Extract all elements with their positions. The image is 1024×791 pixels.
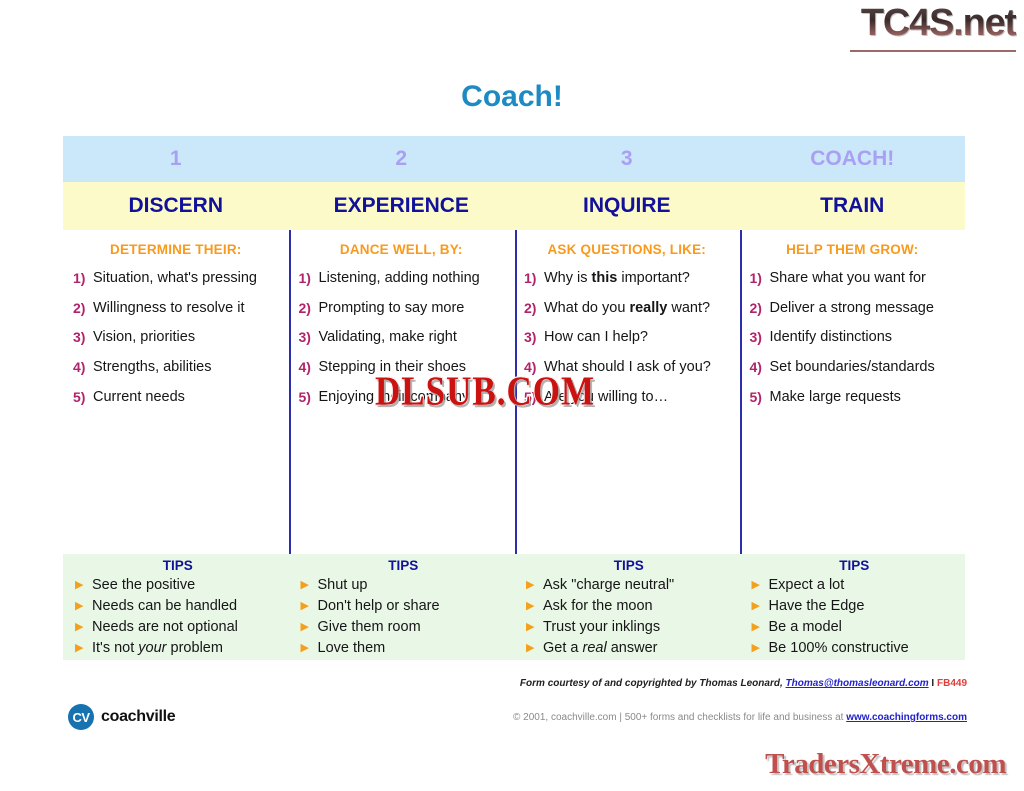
- tips-title: TIPS: [301, 558, 507, 573]
- column-item: 4)What should I ask of you?: [524, 359, 730, 377]
- tip-item: ▶Be a model: [752, 617, 958, 638]
- tip-text: Don't help or share: [318, 596, 440, 617]
- tip-text: It's not your problem: [92, 638, 223, 659]
- coachville-wordmark: coachville: [101, 708, 175, 726]
- page-title: Coach!: [0, 80, 1024, 114]
- column-heading: HELP THEM GROW:: [750, 242, 956, 257]
- triangle-bullet-icon: ▶: [301, 596, 318, 617]
- tip-text: Ask "charge neutral": [543, 575, 674, 596]
- item-number: 3): [524, 329, 544, 347]
- item-number: 5): [524, 389, 544, 407]
- item-number: 5): [299, 389, 319, 407]
- triangle-bullet-icon: ▶: [526, 596, 543, 617]
- tip-item: ▶Ask "charge neutral": [526, 575, 732, 596]
- tradersxtreme-watermark: TradersXtreme.com: [765, 748, 1006, 781]
- item-number: 1): [524, 270, 544, 288]
- triangle-bullet-icon: ▶: [301, 617, 318, 638]
- column-item: 2)What do you really want?: [524, 300, 730, 318]
- tip-text: Get a real answer: [543, 638, 657, 659]
- column-item: 3)How can I help?: [524, 329, 730, 347]
- tc4s-logo-underline: [850, 50, 1016, 52]
- tip-item: ▶Be 100% constructive: [752, 638, 958, 659]
- item-text: Identify distinctions: [770, 329, 956, 347]
- item-number: 2): [750, 300, 770, 318]
- column-item: 1)Share what you want for: [750, 270, 956, 288]
- tips-list: ▶Ask "charge neutral"▶Ask for the moon▶T…: [526, 575, 732, 659]
- item-number: 5): [73, 389, 93, 407]
- column-item: 3)Vision, priorities: [73, 329, 279, 347]
- tips-list: ▶Shut up▶Don't help or share▶Give them r…: [301, 575, 507, 659]
- tip-item: ▶Trust your inklings: [526, 617, 732, 638]
- triangle-bullet-icon: ▶: [526, 638, 543, 659]
- tips-title: TIPS: [526, 558, 732, 573]
- triangle-bullet-icon: ▶: [75, 617, 92, 638]
- header-name-inquire: INQUIRE: [514, 182, 740, 230]
- courtesy-text: Form courtesy of and copyrighted by Thom…: [520, 678, 786, 689]
- item-text: Why is this important?: [544, 270, 730, 288]
- column-item: 1)Listening, adding nothing: [299, 270, 505, 288]
- column-item: 5)Current needs: [73, 389, 279, 407]
- item-number: 2): [73, 300, 93, 318]
- tip-text: Needs can be handled: [92, 596, 237, 617]
- triangle-bullet-icon: ▶: [526, 617, 543, 638]
- tip-text: Needs are not optional: [92, 617, 238, 638]
- item-text: Strengths, abilities: [93, 359, 279, 377]
- item-number: 4): [299, 359, 319, 377]
- tip-text: Love them: [318, 638, 386, 659]
- column-item: 2)Prompting to say more: [299, 300, 505, 318]
- header-number-coach: COACH!: [740, 136, 966, 182]
- tips-title: TIPS: [752, 558, 958, 573]
- item-text: What do you really want?: [544, 300, 730, 318]
- item-text: Prompting to say more: [319, 300, 505, 318]
- tip-item: ▶Shut up: [301, 575, 507, 596]
- item-text: Willingness to resolve it: [93, 300, 279, 318]
- coachingforms-link[interactable]: www.coachingforms.com: [846, 712, 967, 723]
- column-item: 2)Willingness to resolve it: [73, 300, 279, 318]
- column-discern: DETERMINE THEIR: 1)Situation, what's pre…: [63, 230, 289, 554]
- form-code: FB449: [937, 678, 967, 689]
- item-number: 4): [73, 359, 93, 377]
- tip-text: Be 100% constructive: [769, 638, 909, 659]
- triangle-bullet-icon: ▶: [75, 575, 92, 596]
- body-row: DETERMINE THEIR: 1)Situation, what's pre…: [63, 230, 965, 554]
- item-text: What should I ask of you?: [544, 359, 730, 377]
- tips-title: TIPS: [75, 558, 281, 573]
- header-number-1: 1: [63, 136, 289, 182]
- tip-text: Ask for the moon: [543, 596, 653, 617]
- tip-text: Give them room: [318, 617, 421, 638]
- column-item: 3)Validating, make right: [299, 329, 505, 347]
- author-email-link[interactable]: Thomas@thomasleonard.com: [786, 678, 929, 689]
- header-name-experience: EXPERIENCE: [289, 182, 515, 230]
- header-name-train: TRAIN: [740, 182, 966, 230]
- item-text: Share what you want for: [770, 270, 956, 288]
- column-item: 2)Deliver a strong message: [750, 300, 956, 318]
- item-number: 2): [524, 300, 544, 318]
- triangle-bullet-icon: ▶: [752, 575, 769, 596]
- tip-item: ▶Don't help or share: [301, 596, 507, 617]
- column-item: 5)Make large requests: [750, 389, 956, 407]
- tips-column-discern: TIPS ▶See the positive▶Needs can be hand…: [63, 554, 289, 660]
- coachville-logo: CV coachville: [68, 704, 175, 730]
- column-item-list: 1)Situation, what's pressing2)Willingnes…: [73, 270, 279, 406]
- item-text: Vision, priorities: [93, 329, 279, 347]
- triangle-bullet-icon: ▶: [301, 575, 318, 596]
- header-number-2: 2: [289, 136, 515, 182]
- tip-item: ▶Expect a lot: [752, 575, 958, 596]
- triangle-bullet-icon: ▶: [75, 638, 92, 659]
- item-number: 1): [73, 270, 93, 288]
- column-inquire: ASK QUESTIONS, LIKE: 1)Why is this impor…: [514, 230, 740, 554]
- tip-item: ▶Needs are not optional: [75, 617, 281, 638]
- tip-text: Be a model: [769, 617, 842, 638]
- tip-item: ▶Give them room: [301, 617, 507, 638]
- tip-text: Expect a lot: [769, 575, 845, 596]
- triangle-bullet-icon: ▶: [526, 575, 543, 596]
- column-item-list: 1)Listening, adding nothing2)Prompting t…: [299, 270, 505, 406]
- tip-item: ▶Have the Edge: [752, 596, 958, 617]
- tip-text: Trust your inklings: [543, 617, 660, 638]
- item-number: 3): [750, 329, 770, 347]
- tips-column-train: TIPS ▶Expect a lot▶Have the Edge▶Be a mo…: [740, 554, 966, 660]
- item-text: Situation, what's pressing: [93, 270, 279, 288]
- column-item: 4)Set boundaries/standards: [750, 359, 956, 377]
- item-number: 4): [750, 359, 770, 377]
- cv-badge-icon: CV: [68, 704, 94, 730]
- coach-form-table: 1 2 3 COACH! DISCERN EXPERIENCE INQUIRE …: [63, 136, 965, 660]
- item-number: 1): [299, 270, 319, 288]
- tip-item: ▶Love them: [301, 638, 507, 659]
- column-heading: DETERMINE THEIR:: [73, 242, 279, 257]
- item-number: 5): [750, 389, 770, 407]
- tip-item: ▶Get a real answer: [526, 638, 732, 659]
- item-text: Stepping in their shoes: [319, 359, 505, 377]
- tip-text: Shut up: [318, 575, 368, 596]
- column-item: 5)Are you willing to…: [524, 389, 730, 407]
- column-experience: DANCE WELL, BY: 1)Listening, adding noth…: [289, 230, 515, 554]
- column-item: 3)Identify distinctions: [750, 329, 956, 347]
- triangle-bullet-icon: ▶: [752, 596, 769, 617]
- column-item-list: 1)Why is this important?2)What do you re…: [524, 270, 730, 406]
- tip-item: ▶See the positive: [75, 575, 281, 596]
- item-text: Enjoying their company: [319, 389, 505, 407]
- triangle-bullet-icon: ▶: [752, 617, 769, 638]
- column-heading: ASK QUESTIONS, LIKE:: [524, 242, 730, 257]
- tips-column-inquire: TIPS ▶Ask "charge neutral"▶Ask for the m…: [514, 554, 740, 660]
- header-number-3: 3: [514, 136, 740, 182]
- column-item: 1)Why is this important?: [524, 270, 730, 288]
- column-item: 5)Enjoying their company: [299, 389, 505, 407]
- header-number-row: 1 2 3 COACH!: [63, 136, 965, 182]
- tip-text: Have the Edge: [769, 596, 865, 617]
- footer-courtesy-line: Form courtesy of and copyrighted by Thom…: [0, 678, 1024, 689]
- item-number: 3): [299, 329, 319, 347]
- column-heading: DANCE WELL, BY:: [299, 242, 505, 257]
- item-text: Make large requests: [770, 389, 956, 407]
- column-item: 1)Situation, what's pressing: [73, 270, 279, 288]
- item-text: Are you willing to…: [544, 389, 730, 407]
- tip-item: ▶Needs can be handled: [75, 596, 281, 617]
- item-number: 4): [524, 359, 544, 377]
- column-item: 4)Stepping in their shoes: [299, 359, 505, 377]
- header-name-row: DISCERN EXPERIENCE INQUIRE TRAIN: [63, 182, 965, 230]
- tips-row: TIPS ▶See the positive▶Needs can be hand…: [63, 554, 965, 660]
- tip-item: ▶It's not your problem: [75, 638, 281, 659]
- column-item-list: 1)Share what you want for2)Deliver a str…: [750, 270, 956, 406]
- copyright-text: © 2001, coachville.com | 500+ forms and …: [513, 712, 846, 723]
- column-train: HELP THEM GROW: 1)Share what you want fo…: [740, 230, 966, 554]
- item-text: How can I help?: [544, 329, 730, 347]
- tip-item: ▶Ask for the moon: [526, 596, 732, 617]
- triangle-bullet-icon: ▶: [75, 596, 92, 617]
- tips-list: ▶Expect a lot▶Have the Edge▶Be a model▶B…: [752, 575, 958, 659]
- header-name-discern: DISCERN: [63, 182, 289, 230]
- item-text: Set boundaries/standards: [770, 359, 956, 377]
- item-number: 3): [73, 329, 93, 347]
- item-text: Listening, adding nothing: [319, 270, 505, 288]
- item-text: Validating, make right: [319, 329, 505, 347]
- courtesy-separator: I: [929, 678, 937, 689]
- triangle-bullet-icon: ▶: [752, 638, 769, 659]
- tips-list: ▶See the positive▶Needs can be handled▶N…: [75, 575, 281, 659]
- column-item: 4)Strengths, abilities: [73, 359, 279, 377]
- tips-column-experience: TIPS ▶Shut up▶Don't help or share▶Give t…: [289, 554, 515, 660]
- tip-text: See the positive: [92, 575, 195, 596]
- item-number: 2): [299, 300, 319, 318]
- tc4s-logo: TC4S.net: [861, 2, 1016, 45]
- item-text: Current needs: [93, 389, 279, 407]
- item-text: Deliver a strong message: [770, 300, 956, 318]
- triangle-bullet-icon: ▶: [301, 638, 318, 659]
- item-number: 1): [750, 270, 770, 288]
